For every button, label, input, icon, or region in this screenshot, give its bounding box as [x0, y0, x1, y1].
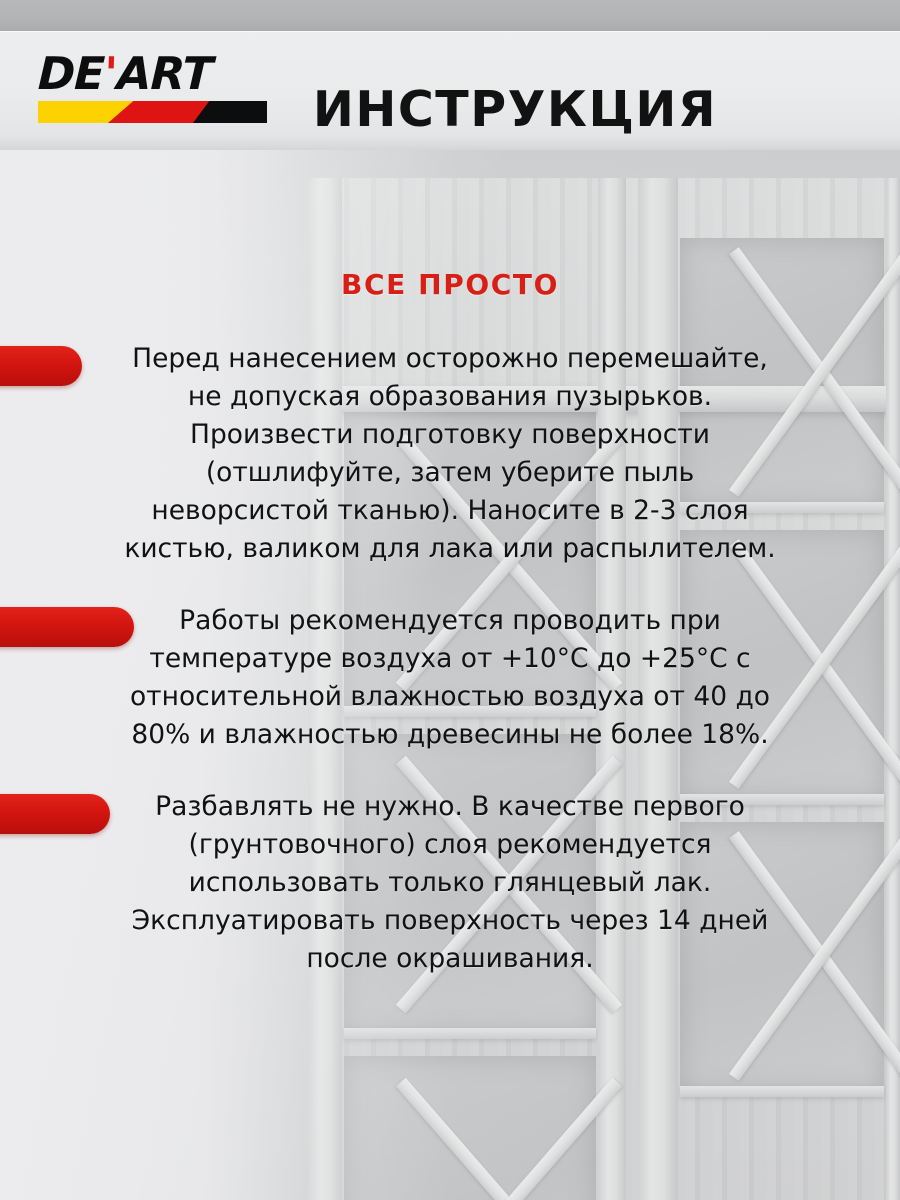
step-bullet-icon	[0, 794, 110, 834]
instruction-step: Разбавлять не нужно. В качестве первого …	[0, 788, 900, 978]
step-bullet-icon	[0, 607, 134, 647]
step-text: Работы рекомендуется проводить при темпе…	[46, 602, 854, 754]
instruction-poster: DE'ART ИНСТРУКЦИЯ ВСЕ ПРОСТО Перед нанес…	[0, 0, 900, 1200]
page-header: DE'ART ИНСТРУКЦИЯ	[0, 31, 900, 150]
instruction-step: Работы рекомендуется проводить при темпе…	[0, 602, 900, 754]
step-text: Перед нанесением осторожно перемешайте, …	[46, 340, 854, 568]
top-strip	[0, 0, 900, 31]
page-title: ИНСТРУКЦИЯ	[0, 81, 900, 138]
steps-list: Перед нанесением осторожно перемешайте, …	[0, 340, 900, 978]
step-bullet-icon	[0, 346, 82, 386]
section-heading: ВСЕ ПРОСТО	[0, 268, 900, 301]
instruction-content: ВСЕ ПРОСТО Перед нанесением осторожно пе…	[0, 150, 900, 1200]
step-text: Разбавлять не нужно. В качестве первого …	[46, 788, 854, 978]
instruction-step: Перед нанесением осторожно перемешайте, …	[0, 340, 900, 568]
